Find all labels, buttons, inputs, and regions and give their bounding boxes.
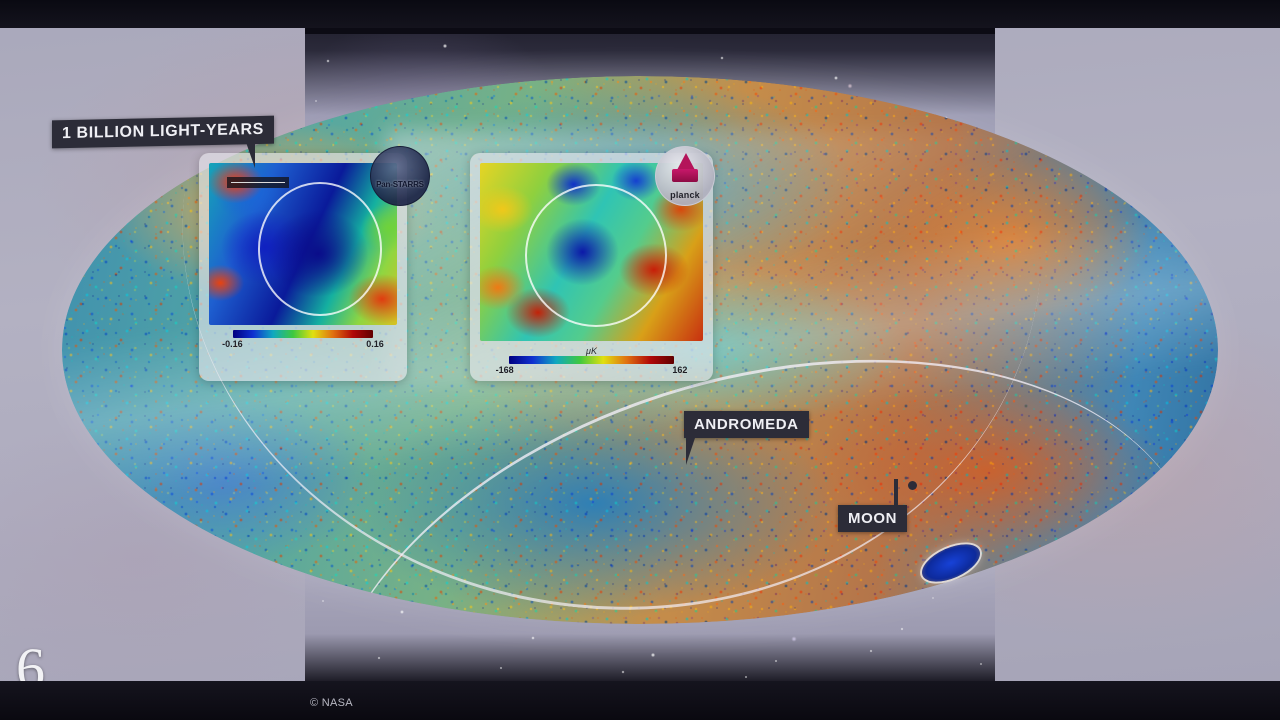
letterbox-bottom (0, 681, 1280, 720)
pan-starrs-map-image (209, 163, 397, 325)
colorbar-ticks: -0.16 0.16 (222, 339, 384, 349)
region-circle-overlay (258, 182, 382, 316)
moon-marker-dot (908, 481, 917, 490)
colorbar-gradient (509, 356, 674, 364)
colorbar-ticks: -168 162 (496, 365, 688, 375)
planck-satellite-icon (671, 153, 699, 187)
image-credit: © NASA (310, 697, 353, 709)
callout-pointer-tail (686, 435, 696, 465)
pan-starrs-colorbar: -0.16 0.16 (209, 330, 397, 349)
callout-moon: MOON (838, 505, 907, 532)
pan-starrs-logo-label: Pan-STARRS (376, 180, 424, 205)
slide-stage: -0.16 0.16 μK -168 162 Pan-STARRS planck (0, 0, 1280, 720)
planck-colorbar: μK -168 162 (480, 346, 703, 375)
planck-body-shape (672, 169, 698, 182)
colorbar-min-value: -0.16 (222, 339, 243, 349)
region-circle-overlay (525, 184, 667, 327)
callout-pointer-tail (246, 142, 255, 168)
letterbox-top (0, 0, 1280, 28)
planck-logo-label: planck (670, 190, 700, 205)
colorbar-min-value: -168 (496, 365, 514, 375)
callout-label: ANDROMEDA (694, 416, 799, 433)
callout-andromeda: ANDROMEDA (684, 411, 809, 438)
callout-billion-light-years: 1 BILLION LIGHT-YEARS (52, 116, 274, 149)
callout-label: MOON (848, 510, 897, 527)
planck-logo-icon: planck (655, 146, 715, 206)
colorbar-max-value: 162 (672, 365, 687, 375)
scale-bar-icon (227, 177, 289, 188)
callout-label: 1 BILLION LIGHT-YEARS (62, 121, 264, 142)
colorbar-max-value: 0.16 (366, 339, 384, 349)
planck-cone-shape (677, 153, 695, 170)
callout-pointer-tail (894, 479, 898, 505)
colorbar-unit-label: μK (586, 346, 597, 356)
pan-starrs-logo-icon: Pan-STARRS (370, 146, 430, 206)
colorbar-gradient (233, 330, 372, 338)
